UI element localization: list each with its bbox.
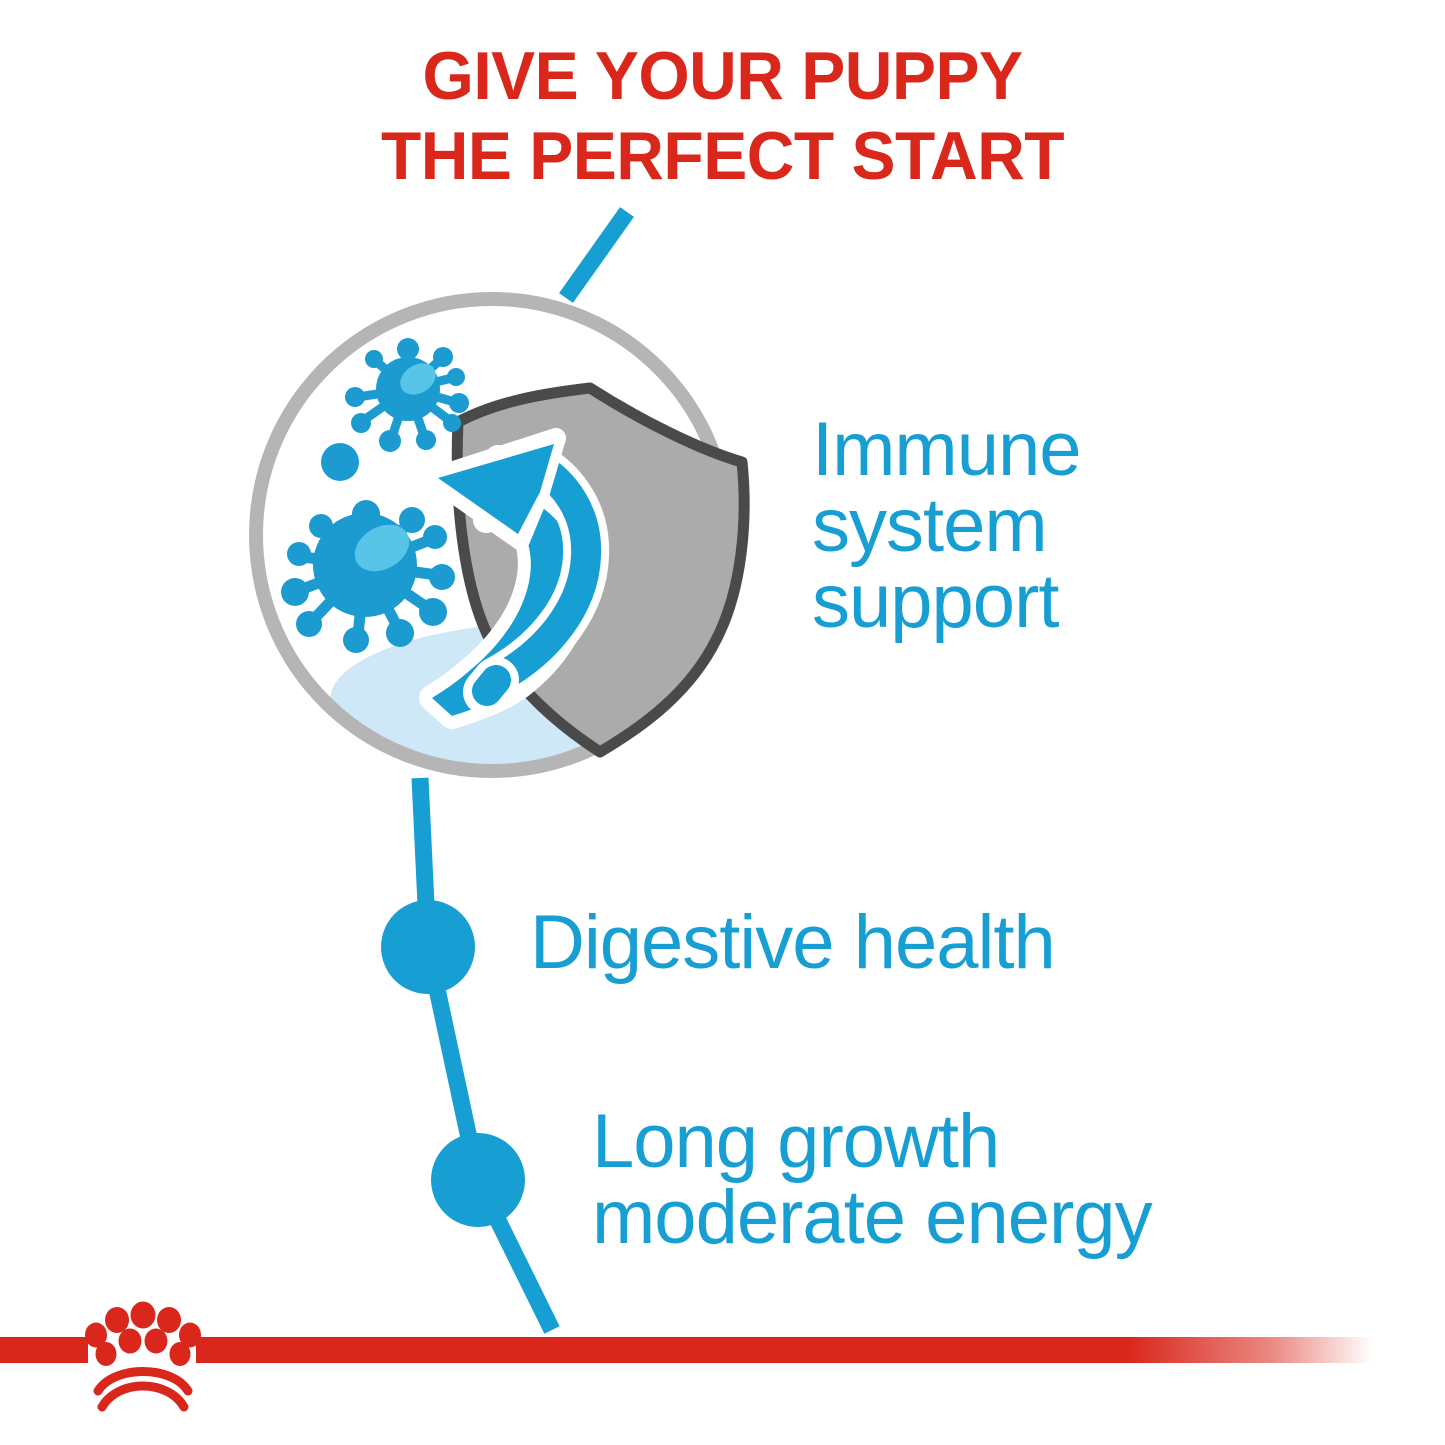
swoosh-tail [487, 680, 496, 691]
connector-line-top [566, 212, 627, 298]
connector-dot-growth [431, 1133, 525, 1227]
poster-canvas: GIVE YOUR PUPPY THE PERFECT START [0, 0, 1445, 1445]
connector-dot-digestive [381, 900, 475, 994]
virus-dot-icon [321, 443, 359, 481]
brand-red-bar [0, 1337, 1445, 1363]
benefit-label-digestive: Digestive health [530, 905, 1290, 981]
crown-arc-inner [102, 1386, 184, 1407]
benefit-label-growth: Long growth moderate energy [592, 1104, 1392, 1256]
brand-footer [0, 1295, 1445, 1445]
royal-canin-crown-logo [84, 1295, 202, 1417]
connector-line-main [420, 778, 552, 1330]
benefit-label-immune: Immune system support [812, 412, 1332, 640]
